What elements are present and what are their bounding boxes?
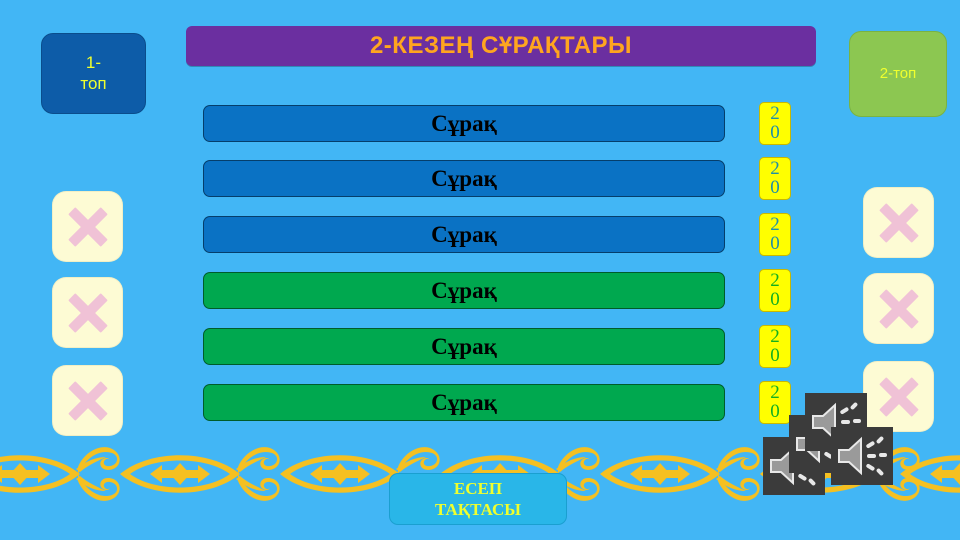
score-chip-1-value: 20 (768, 105, 782, 141)
score-chip-3[interactable]: 20 (759, 213, 791, 256)
score-chip-2[interactable]: 20 (759, 157, 791, 200)
cross-icon (864, 274, 933, 343)
cross-icon (864, 188, 933, 257)
score-chip-1[interactable]: 20 (759, 102, 791, 145)
question-button-5-label: Сұрақ (431, 334, 497, 360)
question-button-4[interactable]: Сұрақ (203, 272, 725, 309)
question-row: Сұрақ (203, 160, 725, 197)
marker-right-2[interactable] (864, 274, 933, 343)
speaker-icon[interactable] (831, 427, 893, 485)
question-row: Сұрақ (203, 216, 725, 253)
question-button-3-label: Сұрақ (431, 222, 497, 248)
question-row: Сұрақ (203, 384, 725, 421)
score-chip-3-value: 20 (768, 216, 782, 252)
score-chip-2-value: 20 (768, 160, 782, 196)
marker-left-2[interactable] (53, 278, 122, 347)
question-button-1[interactable]: Сұрақ (203, 105, 725, 142)
cross-icon (53, 278, 122, 347)
question-button-1-label: Сұрақ (431, 111, 497, 137)
cross-icon (53, 366, 122, 435)
question-button-2[interactable]: Сұрақ (203, 160, 725, 197)
score-chip-4-value: 20 (768, 272, 782, 308)
question-button-4-label: Сұрақ (431, 278, 497, 304)
score-board-button[interactable]: ЕСЕП ТАҚТАСЫ (389, 473, 567, 525)
score-chip-5[interactable]: 20 (759, 325, 791, 368)
cross-icon (53, 192, 122, 261)
score-chip-4[interactable]: 20 (759, 269, 791, 312)
question-button-6-label: Сұрақ (431, 390, 497, 416)
score-board-button-line2: ТАҚТАСЫ (435, 499, 521, 520)
question-button-2-label: Сұрақ (431, 166, 497, 192)
score-chip-5-value: 20 (768, 328, 782, 364)
marker-left-1[interactable] (53, 192, 122, 261)
score-board-button-line1: ЕСЕП (454, 478, 502, 499)
sound-icon-cluster[interactable] (763, 393, 893, 495)
marker-left-3[interactable] (53, 366, 122, 435)
question-button-3[interactable]: Сұрақ (203, 216, 725, 253)
question-row: Сұрақ (203, 105, 725, 142)
question-button-6[interactable]: Сұрақ (203, 384, 725, 421)
question-row: Сұрақ (203, 272, 725, 309)
question-button-5[interactable]: Сұрақ (203, 328, 725, 365)
slide-canvas: 2-КЕЗЕҢ СҰРАҚТАРЫ 1- топ 2-топ Сұрақ 20 … (0, 0, 960, 540)
question-row: Сұрақ (203, 328, 725, 365)
marker-right-1[interactable] (864, 188, 933, 257)
